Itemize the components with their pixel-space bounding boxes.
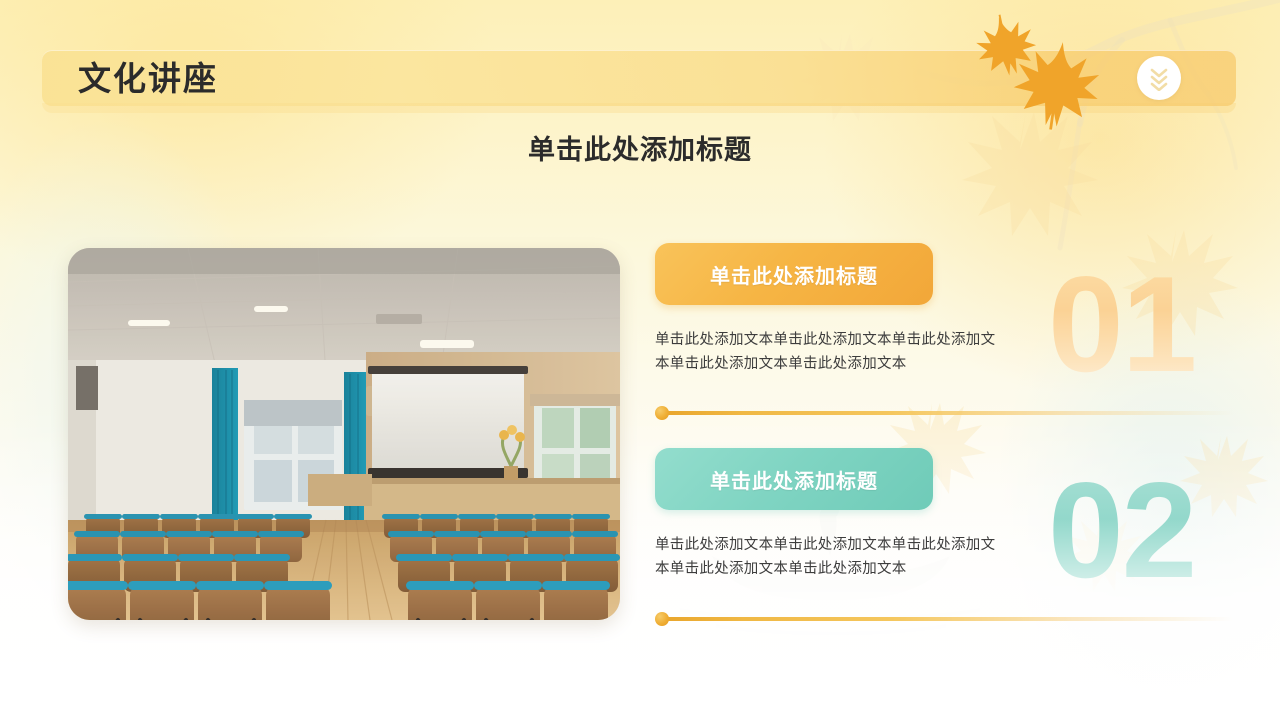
divider-dot [655, 406, 669, 420]
divider-line [664, 617, 1233, 621]
block-01-divider [655, 406, 1233, 420]
page-title: 文化讲座 [78, 56, 218, 102]
chevron-stack [1148, 65, 1170, 91]
title-banner [42, 50, 1236, 106]
triple-chevron-down-icon[interactable] [1137, 56, 1181, 100]
slide-canvas: 文化讲座 单击此处添加标题 [0, 0, 1280, 720]
lecture-hall-photo[interactable] [68, 248, 620, 620]
block-02-title-button[interactable]: 单击此处添加标题 [655, 448, 933, 510]
lecture-hall-illustration [68, 248, 620, 620]
block-01-title-button[interactable]: 单击此处添加标题 [655, 243, 933, 305]
main-heading: 单击此处添加标题 [0, 128, 1280, 167]
block-01-body-text: 单击此处添加文本单击此处添加文本单击此处添加文本单击此处添加文本单击此处添加文本 [655, 328, 1007, 376]
block-02-body-text: 单击此处添加文本单击此处添加文本单击此处添加文本单击此处添加文本单击此处添加文本 [655, 533, 1007, 581]
content-block-01: 单击此处添加标题 单击此处添加文本单击此处添加文本单击此处添加文本单击此处添加文… [655, 243, 1230, 376]
divider-line [664, 411, 1233, 415]
content-block-02: 单击此处添加标题 单击此处添加文本单击此处添加文本单击此处添加文本单击此处添加文… [655, 448, 1230, 581]
block-02-divider [655, 612, 1233, 626]
divider-dot [655, 612, 669, 626]
